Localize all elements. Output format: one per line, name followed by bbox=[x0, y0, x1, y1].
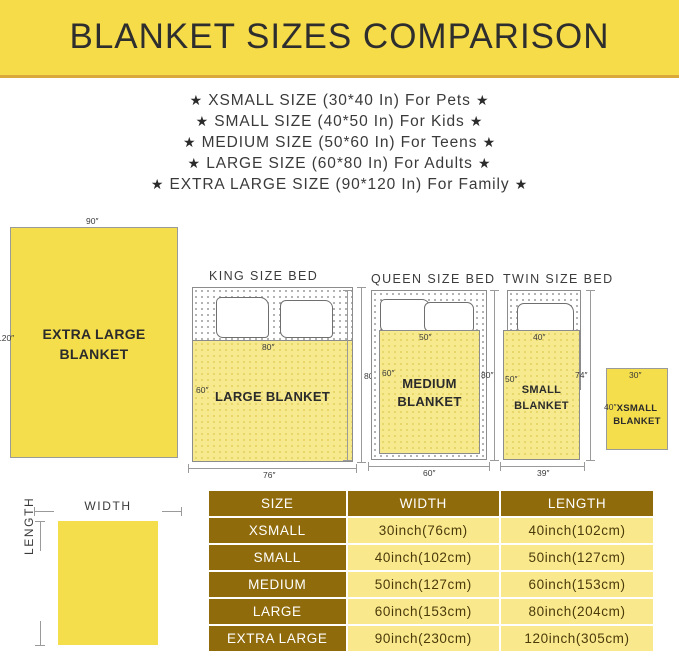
twin-length-tick-top bbox=[586, 290, 595, 291]
cell-width-small: 40inch(102cm) bbox=[348, 545, 500, 570]
cell-width-extra-large: 90inch(230cm) bbox=[348, 626, 500, 651]
table-row: LARGE 60inch(153cm) 80inch(204cm) bbox=[209, 599, 653, 624]
twin-blanket-length-dim: 50″ bbox=[505, 374, 517, 384]
king-width-tick-right bbox=[356, 464, 357, 473]
king-width-tick-left bbox=[188, 464, 189, 473]
queen-blanket-width-dim: 50″ bbox=[419, 332, 431, 342]
queen-width-dimline bbox=[368, 466, 490, 467]
column-header-length: LENGTH bbox=[501, 491, 653, 516]
star-icon-left: ★ bbox=[196, 113, 209, 129]
bullet-item-small: ★ SMALL SIZE (40*50 In) For Kids ★ bbox=[0, 111, 679, 132]
cell-size-large: LARGE bbox=[209, 599, 346, 624]
bullet-item-extra-large: ★ EXTRA LARGE SIZE (90*120 In) For Famil… bbox=[0, 174, 679, 195]
queen-left-tick-bottom bbox=[343, 460, 352, 461]
queen-bed-width-dim: 60″ bbox=[423, 468, 435, 478]
wl-width-tick-right bbox=[162, 511, 182, 512]
wl-width-endtick-left bbox=[34, 507, 35, 516]
cell-width-xsmall: 30inch(76cm) bbox=[348, 518, 500, 543]
star-icon-right: ★ bbox=[470, 113, 483, 129]
king-blanket-length-dim: 60″ bbox=[196, 385, 208, 395]
king-length-dimline bbox=[361, 287, 362, 462]
queen-left-dimline bbox=[347, 290, 348, 460]
cell-length-large: 80inch(204cm) bbox=[501, 599, 653, 624]
twin-bed-width-dim: 39″ bbox=[537, 468, 549, 478]
twin-blanket-width-dim: 40″ bbox=[533, 332, 545, 342]
table-row: EXTRA LARGE 90inch(230cm) 120inch(305cm) bbox=[209, 626, 653, 651]
width-length-blanket-shape bbox=[58, 521, 158, 645]
column-header-width: WIDTH bbox=[348, 491, 500, 516]
bullet-text: LARGE SIZE (60*80 In) For Adults bbox=[206, 155, 473, 172]
queen-blanket-length-dim: 60″ bbox=[382, 368, 394, 378]
xsmall-length-dim: 40″ bbox=[604, 402, 616, 412]
queen-pillow-right bbox=[424, 302, 474, 332]
header-divider bbox=[0, 75, 679, 78]
cell-size-medium: MEDIUM bbox=[209, 572, 346, 597]
star-icon-left: ★ bbox=[151, 176, 164, 192]
queen-length-tick-top bbox=[490, 290, 499, 291]
wl-length-tick-top bbox=[40, 521, 41, 551]
king-pillow-left bbox=[216, 297, 269, 338]
queen-length-tick-bottom bbox=[490, 460, 499, 461]
bullet-text: EXTRA LARGE SIZE (90*120 In) For Family bbox=[169, 176, 509, 193]
star-icon-left: ★ bbox=[188, 155, 201, 171]
table-row: XSMALL 30inch(76cm) 40inch(102cm) bbox=[209, 518, 653, 543]
bullet-item-large: ★ LARGE SIZE (60*80 In) For Adults ★ bbox=[0, 153, 679, 174]
king-bed-title: KING SIZE BED bbox=[209, 269, 318, 283]
twin-width-tick-left bbox=[500, 462, 501, 471]
bullet-text: MEDIUM SIZE (50*60 In) For Teens bbox=[202, 134, 478, 151]
queen-bed-length-dim: 80″ bbox=[481, 370, 493, 380]
page-title: BLANKET SIZES COMPARISON bbox=[0, 17, 679, 57]
twin-length-tick-bottom bbox=[586, 460, 595, 461]
bullet-text: SMALL SIZE (40*50 In) For Kids bbox=[214, 113, 464, 130]
bullet-item-xsmall: ★ XSMALL SIZE (30*40 In) For Pets ★ bbox=[0, 90, 679, 111]
king-blanket-width-dim: 80″ bbox=[262, 342, 274, 352]
medium-blanket-label-line2: BLANKET bbox=[380, 394, 479, 410]
king-width-dimline bbox=[188, 468, 357, 469]
wl-length-endtick-top bbox=[35, 521, 45, 522]
size-bullet-list: ★ XSMALL SIZE (30*40 In) For Pets ★ ★ SM… bbox=[0, 90, 679, 195]
twin-bed-length-dim: 74″ bbox=[575, 370, 587, 380]
width-label: WIDTH bbox=[58, 499, 158, 513]
queen-length-dimline bbox=[494, 290, 495, 460]
size-diagram: EXTRA LARGE BLANKET 90″ 120″ KING SIZE B… bbox=[0, 210, 679, 485]
cell-size-extra-large: EXTRA LARGE bbox=[209, 626, 346, 651]
wl-length-endtick-bottom bbox=[35, 645, 45, 646]
queen-width-tick-right bbox=[489, 462, 490, 471]
extra-large-length-dim: 120″ bbox=[0, 333, 14, 343]
wl-width-endtick-right bbox=[181, 507, 182, 516]
star-icon-right: ★ bbox=[476, 92, 489, 108]
star-icon-left: ★ bbox=[183, 134, 196, 150]
cell-length-medium: 60inch(153cm) bbox=[501, 572, 653, 597]
extra-large-blanket-label-line2: BLANKET bbox=[11, 344, 177, 364]
table-row: SMALL 40inch(102cm) 50inch(127cm) bbox=[209, 545, 653, 570]
xsmall-width-dim: 30″ bbox=[629, 370, 641, 380]
column-header-size: SIZE bbox=[209, 491, 346, 516]
extra-large-blanket-label-line1: EXTRA LARGE bbox=[11, 324, 177, 344]
star-icon-right: ★ bbox=[483, 134, 496, 150]
table-row: MEDIUM 50inch(127cm) 60inch(153cm) bbox=[209, 572, 653, 597]
star-icon-left: ★ bbox=[190, 92, 203, 108]
size-comparison-table: SIZE WIDTH LENGTH XSMALL 30inch(76cm) 40… bbox=[207, 489, 655, 653]
twin-width-tick-right bbox=[584, 462, 585, 471]
table-body: SIZE WIDTH LENGTH XSMALL 30inch(76cm) 40… bbox=[209, 491, 653, 651]
twin-length-dimline bbox=[590, 290, 591, 460]
twin-width-dimline bbox=[500, 466, 585, 467]
extra-large-width-dim: 90″ bbox=[86, 216, 98, 226]
xsmall-blanket-label-line2: BLANKET bbox=[607, 416, 667, 428]
table-header-row: SIZE WIDTH LENGTH bbox=[209, 491, 653, 516]
cell-length-extra-large: 120inch(305cm) bbox=[501, 626, 653, 651]
cell-length-xsmall: 40inch(102cm) bbox=[501, 518, 653, 543]
length-label: LENGTH bbox=[22, 497, 36, 555]
queen-bed-title: QUEEN SIZE BED bbox=[371, 272, 495, 286]
medium-blanket-label-line1: MEDIUM bbox=[380, 376, 479, 392]
king-length-tick-bottom bbox=[357, 462, 366, 463]
king-length-tick-top bbox=[357, 287, 366, 288]
queen-pillow-left bbox=[380, 299, 430, 332]
cell-size-xsmall: XSMALL bbox=[209, 518, 346, 543]
twin-small-blanket: SMALL BLANKET bbox=[503, 330, 580, 460]
extra-large-blanket-shape: EXTRA LARGE BLANKET bbox=[10, 227, 178, 458]
bullet-text: XSMALL SIZE (30*40 In) For Pets bbox=[208, 92, 471, 109]
king-pillow-right bbox=[280, 300, 333, 338]
twin-bed-title: TWIN SIZE BED bbox=[503, 272, 614, 286]
wl-width-tick-left bbox=[34, 511, 54, 512]
queen-left-tick-top bbox=[343, 290, 352, 291]
cell-length-small: 50inch(127cm) bbox=[501, 545, 653, 570]
wl-length-tick-bottom bbox=[40, 621, 41, 645]
cell-width-large: 60inch(153cm) bbox=[348, 599, 500, 624]
queen-width-tick-left bbox=[368, 462, 369, 471]
king-large-blanket: LARGE BLANKET bbox=[192, 340, 353, 462]
large-blanket-label: LARGE BLANKET bbox=[193, 389, 352, 405]
small-blanket-label-line2: BLANKET bbox=[504, 399, 579, 413]
width-length-figure: WIDTH LENGTH bbox=[0, 485, 205, 667]
star-icon-right: ★ bbox=[478, 155, 491, 171]
king-bed-width-dim: 76″ bbox=[263, 470, 275, 480]
queen-medium-blanket: MEDIUM BLANKET bbox=[379, 330, 480, 454]
bullet-item-medium: ★ MEDIUM SIZE (50*60 In) For Teens ★ bbox=[0, 132, 679, 153]
small-blanket-label-line1: SMALL bbox=[504, 383, 579, 397]
cell-width-medium: 50inch(127cm) bbox=[348, 572, 500, 597]
cell-size-small: SMALL bbox=[209, 545, 346, 570]
star-icon-right: ★ bbox=[515, 176, 528, 192]
